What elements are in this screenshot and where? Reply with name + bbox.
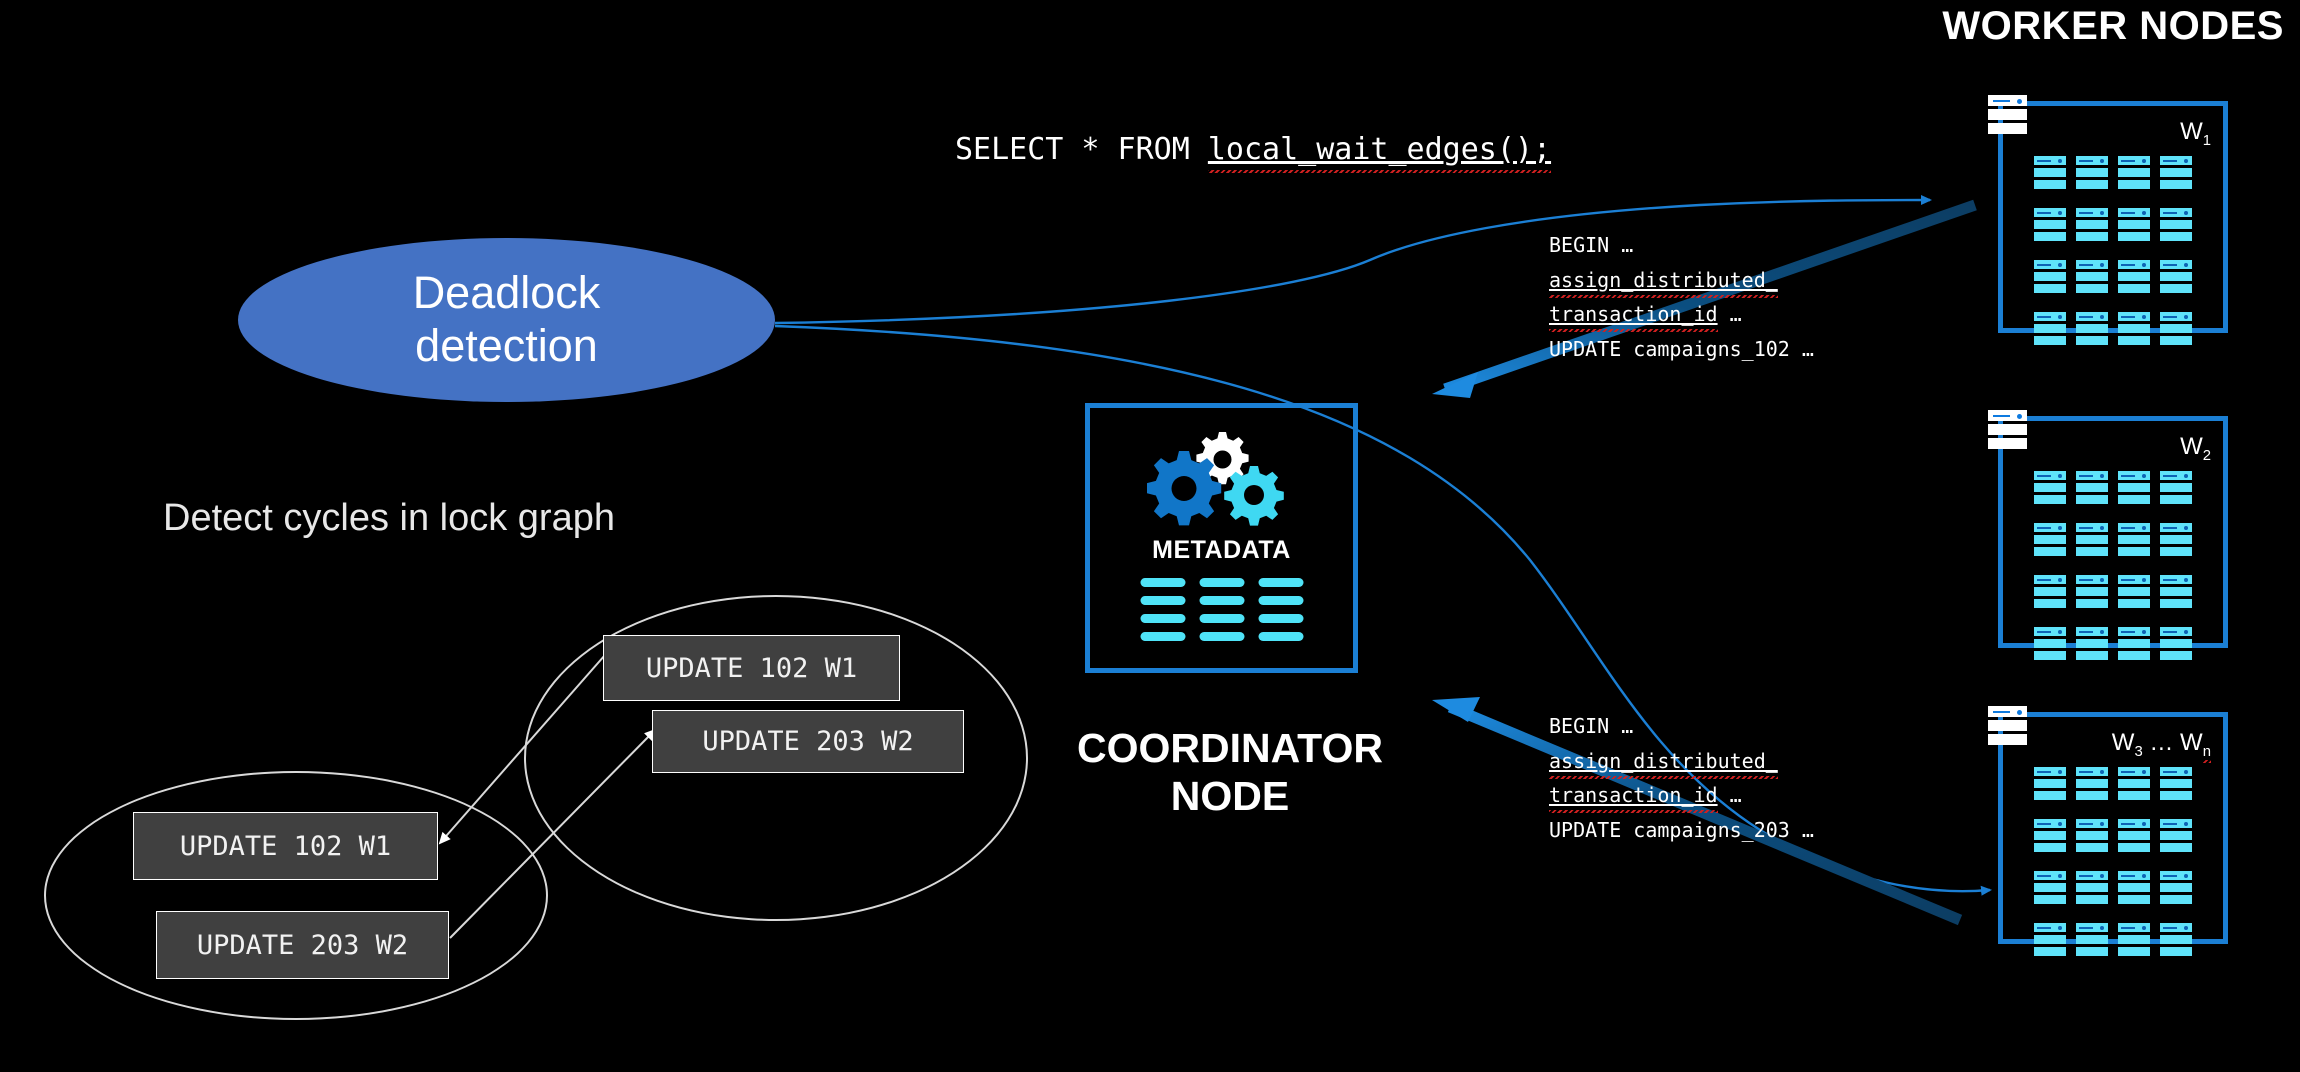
worker-label-sub: 2	[2203, 448, 2211, 464]
lock-graph-box: UPDATE 203 W2	[156, 911, 449, 979]
worker-label-sub: 1	[2203, 133, 2211, 149]
code-line: BEGIN …	[1549, 713, 1814, 741]
server-icon	[2076, 923, 2108, 959]
worker-label-sub: 3	[2134, 744, 2142, 760]
server-icon	[2118, 312, 2150, 348]
server-icon	[2034, 260, 2066, 296]
metadata-bars	[1140, 578, 1303, 641]
worker-node-label-1: W1	[2180, 118, 2211, 149]
gears-icon	[1147, 426, 1297, 541]
server-icon	[2076, 208, 2108, 244]
server-icon	[2076, 156, 2108, 192]
corner-server-icon-3	[1988, 706, 2027, 748]
sql-query-text: SELECT * FROM local_wait_edges();	[955, 132, 1551, 167]
server-icon	[2160, 923, 2192, 959]
coordinator-line-2: NODE	[1060, 773, 1400, 821]
server-icon	[2034, 208, 2066, 244]
code-line: transaction_id	[1549, 783, 1718, 807]
server-icon	[2118, 923, 2150, 959]
deadlock-detection-label: Deadlock detection	[413, 267, 601, 372]
server-icon	[2034, 575, 2066, 611]
code-line: assign_distributed_	[1549, 749, 1778, 773]
server-icon	[2160, 208, 2192, 244]
server-icon	[2076, 575, 2108, 611]
server-icon	[2034, 819, 2066, 855]
server-grid	[2034, 767, 2192, 959]
worker-label-tail-sub: n	[2203, 744, 2211, 760]
transaction-code-block-bottom: BEGIN … assign_distributed_ transaction_…	[1549, 713, 1814, 851]
server-icon	[2076, 871, 2108, 907]
server-icon	[2118, 471, 2150, 507]
worker-node-box-1: W1	[1998, 101, 2228, 333]
server-icon	[2118, 819, 2150, 855]
worker-node-box-3: W3 … Wn	[1998, 712, 2228, 944]
deadlock-detection-ellipse: Deadlock detection	[238, 238, 775, 402]
server-grid	[2034, 156, 2192, 348]
server-icon	[2034, 871, 2066, 907]
transaction-code-block-top: BEGIN … assign_distributed_ transaction_…	[1549, 232, 1814, 370]
code-line-suffix: …	[1718, 783, 1742, 807]
worker-node-label-2: W2	[2180, 433, 2211, 464]
server-icon	[2160, 156, 2192, 192]
code-line: transaction_id	[1549, 302, 1718, 326]
server-icon	[2160, 471, 2192, 507]
server-icon	[2034, 312, 2066, 348]
server-icon	[2034, 923, 2066, 959]
server-icon	[2034, 471, 2066, 507]
server-icon	[2160, 627, 2192, 663]
deadlock-line-1: Deadlock	[413, 267, 601, 320]
server-icon	[2076, 471, 2108, 507]
worker-label-main: W	[2180, 118, 2203, 145]
server-icon	[2118, 871, 2150, 907]
code-line: assign_distributed_	[1549, 268, 1778, 292]
server-icon	[2160, 260, 2192, 296]
metadata-label: METADATA	[1090, 536, 1353, 565]
server-icon	[2076, 767, 2108, 803]
coordinator-node-label: COORDINATOR NODE	[1060, 725, 1400, 821]
worker-label-tail: … W	[2143, 729, 2203, 756]
code-line: UPDATE campaigns_203 …	[1549, 817, 1814, 845]
code-line-suffix: …	[1718, 302, 1742, 326]
lock-graph-box: UPDATE 203 W2	[652, 710, 964, 773]
server-icon	[2160, 767, 2192, 803]
server-grid	[2034, 471, 2192, 663]
code-line: UPDATE campaigns_102 …	[1549, 336, 1814, 364]
lock-graph-ellipse-lower	[44, 771, 548, 1020]
server-icon	[2076, 260, 2108, 296]
server-icon	[2076, 523, 2108, 559]
server-icon	[2034, 627, 2066, 663]
slide-canvas: WORKER NODES SELECT * FROM local_wait_ed…	[0, 0, 2300, 1072]
deadlock-line-2: detection	[413, 320, 601, 373]
server-icon	[2118, 260, 2150, 296]
worker-label-main: W	[2180, 433, 2203, 460]
server-icon	[2034, 523, 2066, 559]
server-icon	[2160, 871, 2192, 907]
server-icon	[2160, 575, 2192, 611]
worker-node-label-3: W3 … Wn	[2112, 729, 2211, 760]
server-icon	[2034, 156, 2066, 192]
corner-server-icon-1	[1988, 95, 2027, 137]
server-icon	[2118, 523, 2150, 559]
server-icon	[2034, 767, 2066, 803]
server-icon	[2076, 819, 2108, 855]
detect-cycles-caption: Detect cycles in lock graph	[163, 497, 615, 540]
sql-query-prefix: SELECT * FROM	[955, 132, 1208, 167]
server-icon	[2160, 312, 2192, 348]
worker-label-main: W	[2112, 729, 2135, 756]
lock-graph-box: UPDATE 102 W1	[133, 812, 438, 880]
worker-nodes-title: WORKER NODES	[1942, 4, 2284, 49]
server-icon	[2076, 312, 2108, 348]
sql-query-function: local_wait_edges();	[1208, 132, 1551, 167]
server-icon	[2160, 819, 2192, 855]
server-icon	[2076, 627, 2108, 663]
code-line: BEGIN …	[1549, 232, 1814, 260]
server-icon	[2118, 627, 2150, 663]
lock-graph-box: UPDATE 102 W1	[603, 635, 900, 701]
coordinator-line-1: COORDINATOR	[1060, 725, 1400, 773]
server-icon	[2118, 208, 2150, 244]
server-icon	[2118, 156, 2150, 192]
server-icon	[2160, 523, 2192, 559]
server-icon	[2118, 575, 2150, 611]
corner-server-icon-2	[1988, 410, 2027, 452]
server-icon	[2118, 767, 2150, 803]
coordinator-metadata-box: METADATA	[1085, 403, 1358, 673]
worker-node-box-2: W2	[1998, 416, 2228, 648]
